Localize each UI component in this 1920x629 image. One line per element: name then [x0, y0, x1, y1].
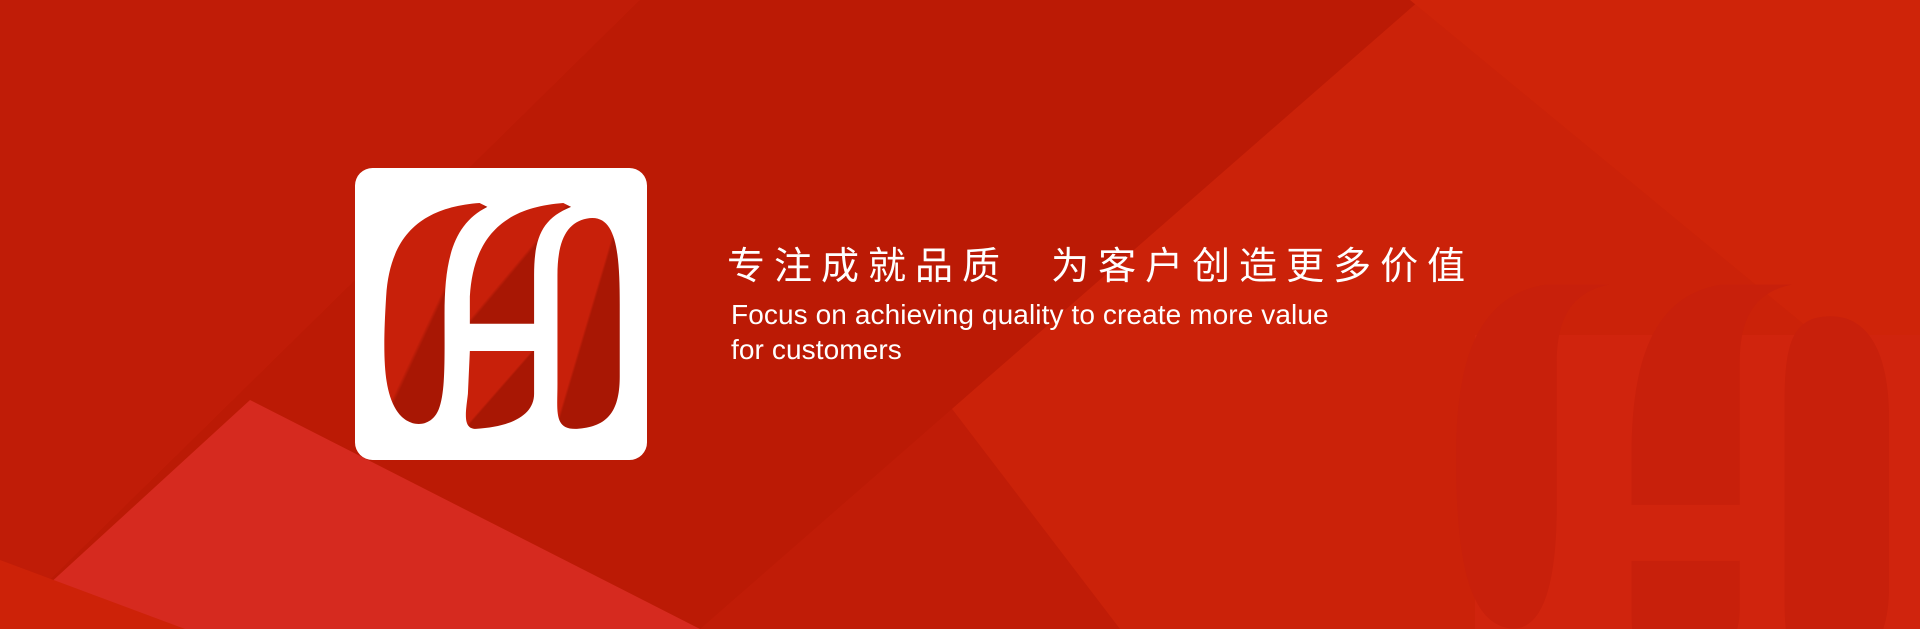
logo-strokes	[384, 203, 619, 429]
slogan-block: 专注成就品质 为客户创造更多价值 Focus on achieving qual…	[727, 243, 1727, 367]
slogan-subline-english: Focus on achieving quality to create mor…	[727, 297, 1511, 368]
slogan-subline-english-line1: Focus on achieving quality to create mor…	[731, 299, 1329, 330]
slogan-headline-chinese: 专注成就品质 为客户创造更多价值	[727, 243, 1727, 291]
company-logo-h-mark	[355, 168, 647, 460]
promo-banner: 专注成就品质 为客户创造更多价值 Focus on achieving qual…	[0, 0, 1920, 629]
slogan-subline-english-line2: for customers	[731, 334, 902, 365]
wedge-watermark-panel	[1475, 335, 1920, 629]
